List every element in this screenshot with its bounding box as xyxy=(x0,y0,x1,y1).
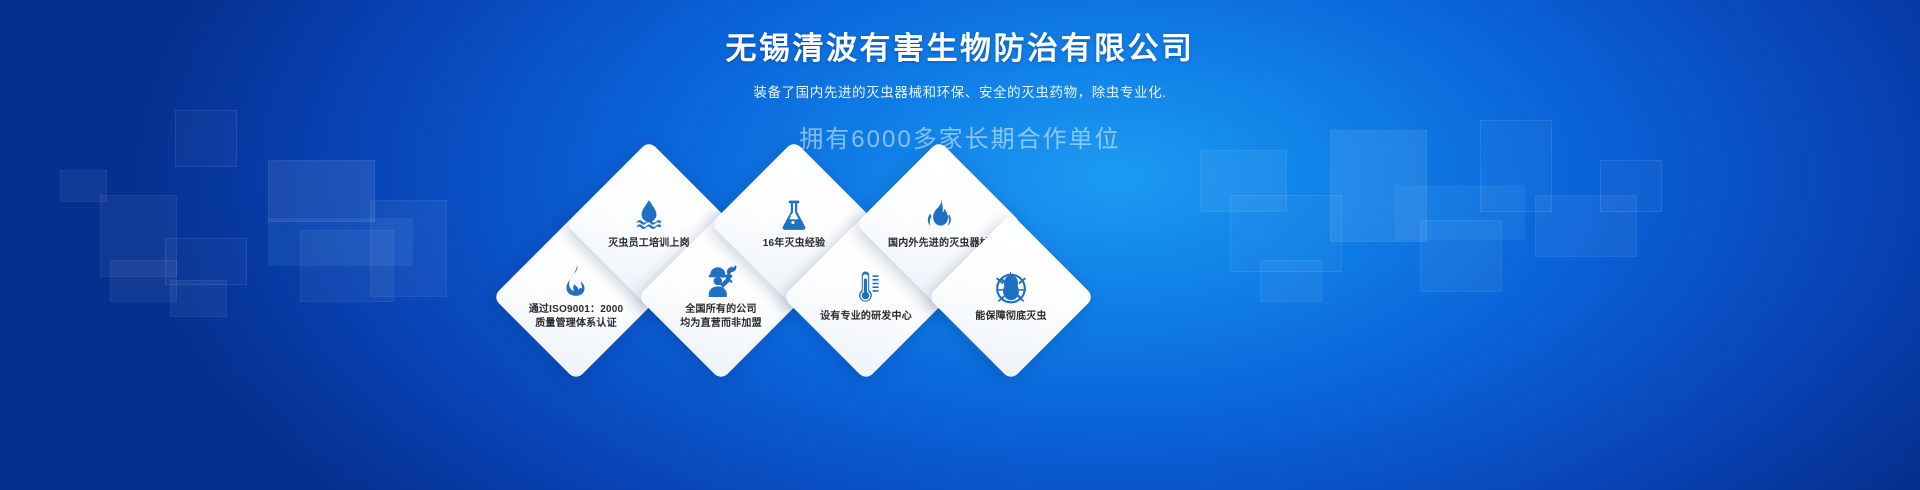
promo-banner: 无锡清波有害生物防治有限公司 装备了国内先进的灭虫器械和环保、安全的灭虫药物，除… xyxy=(0,0,1920,490)
feature-tile-label: 能保障彻底灭虫 xyxy=(955,310,1067,324)
fire-icon xyxy=(922,198,956,232)
worker-wrench-icon xyxy=(704,264,738,298)
thermometer-icon xyxy=(849,271,883,305)
flask-icon xyxy=(777,198,811,232)
feature-tile-content: 能保障彻底灭虫 xyxy=(952,238,1070,356)
flame-icon xyxy=(559,264,593,298)
water-drop-icon xyxy=(632,198,666,232)
feature-tile-label: 设有专业的研发中心 xyxy=(810,310,922,324)
feature-tile-thorough-pestkill[interactable]: 能保障彻底灭虫 xyxy=(928,214,1095,381)
feature-tile-label: 通过ISO9001：2000 质量管理体系认证 xyxy=(520,303,632,330)
pest-ban-icon xyxy=(994,271,1028,305)
feature-tile-label: 全国所有的公司 均为直营而非加盟 xyxy=(665,303,777,330)
feature-diamond-grid: 通过ISO9001：2000 质量管理体系认证灭虫员工培训上岗全国所有的公司 均… xyxy=(0,0,1920,490)
